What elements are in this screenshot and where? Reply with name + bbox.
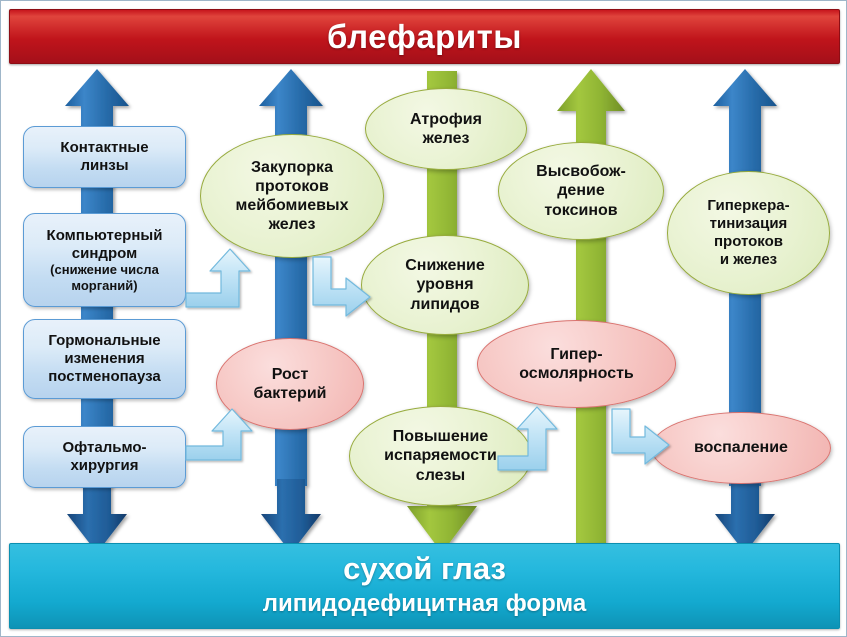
node-line: протоков — [707, 233, 789, 251]
node-toxin-release[interactable]: Высвобож- дение токсинов — [498, 142, 664, 240]
node-inflammation[interactable]: воспаление — [651, 412, 831, 484]
risk-line: постменопауза — [48, 368, 161, 386]
node-line: Гиперкера- — [707, 197, 789, 215]
risk-box-computer-syndrome[interactable]: Компьютерный синдром (снижение числа мор… — [23, 213, 186, 307]
risk-box-contact-lenses[interactable]: Контактные линзы — [23, 126, 186, 188]
node-line: бактерий — [254, 384, 327, 403]
risk-box-ophthalmic-surgery[interactable]: Офтальмо- хирургия — [23, 426, 186, 488]
risk-box-hormonal-changes[interactable]: Гормональные изменения постменопауза — [23, 319, 186, 399]
node-hyperosmolarity[interactable]: Гипер- осмолярность — [477, 320, 676, 408]
footer-banner: сухой глаз липидодефицитная форма — [9, 543, 840, 629]
footer-subtitle: липидодефицитная форма — [263, 590, 586, 619]
node-line: мейбомиевых — [236, 196, 349, 215]
node-increased-evaporation[interactable]: Повышение испаряемости слезы — [349, 406, 532, 506]
node-line: токсинов — [536, 201, 626, 220]
node-line: осмолярность — [519, 364, 634, 383]
risk-line: Гормональные — [48, 332, 161, 350]
node-line: Рост — [254, 365, 327, 384]
node-line: желез — [236, 215, 349, 234]
header-banner: блефариты — [9, 9, 840, 64]
node-line: Атрофия — [410, 110, 482, 129]
risk-line: изменения — [48, 350, 161, 368]
node-gland-atrophy[interactable]: Атрофия желез — [365, 88, 527, 170]
node-line: Закупорка — [236, 158, 349, 177]
diagram-canvas: блефариты Контактные линзы Компьютерный … — [0, 0, 847, 637]
node-line: тинизация — [707, 215, 789, 233]
risk-note-line: морганий) — [47, 278, 163, 293]
node-line: слезы — [384, 466, 497, 485]
risk-line: Контактные — [60, 139, 148, 157]
node-line: воспаление — [694, 438, 788, 457]
node-line: липидов — [405, 295, 484, 314]
risk-note-line: (снижение числа — [47, 262, 163, 277]
node-line: Высвобож- — [536, 162, 626, 181]
node-lipid-decrease[interactable]: Снижение уровня липидов — [361, 235, 529, 335]
page-title: блефариты — [327, 18, 522, 56]
node-line: желез — [410, 129, 482, 148]
risk-line: синдром — [47, 245, 163, 263]
footer-title: сухой глаз — [343, 553, 506, 586]
node-line: протоков — [236, 177, 349, 196]
risk-line: хирургия — [62, 457, 146, 475]
node-bacterial-growth[interactable]: Рост бактерий — [216, 338, 364, 430]
node-line: Гипер- — [519, 345, 634, 364]
risk-line: Офтальмо- — [62, 439, 146, 457]
node-line: испаряемости — [384, 446, 497, 465]
node-line: и желез — [707, 251, 789, 269]
risk-line: Компьютерный — [47, 227, 163, 245]
node-line: Снижение — [405, 256, 484, 275]
node-hyperkeratinization[interactable]: Гиперкера- тинизация протоков и желез — [667, 171, 830, 295]
risk-line: линзы — [60, 157, 148, 175]
node-duct-obstruction[interactable]: Закупорка протоков мейбомиевых желез — [200, 134, 384, 258]
node-line: уровня — [405, 275, 484, 294]
node-line: дение — [536, 181, 626, 200]
node-line: Повышение — [384, 427, 497, 446]
